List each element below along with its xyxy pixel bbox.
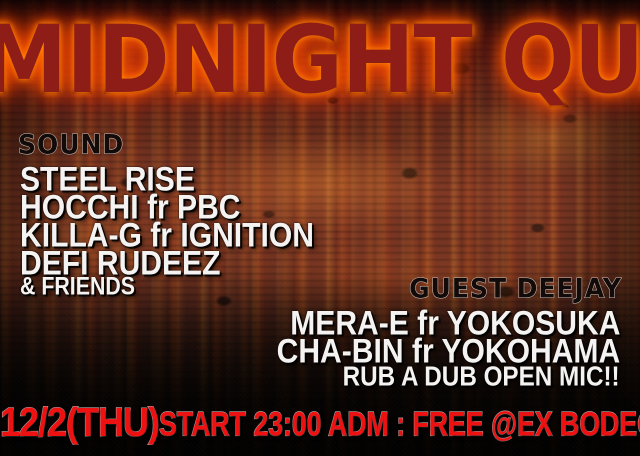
footer-details: START 23:00 ADM : FREE @EX BODEGA	[159, 406, 640, 445]
flyer-poster: MIDNIGHT QUAKE SOUND STEEL RISE HOCCHI f…	[0, 0, 640, 456]
guest-section-label: GUEST DEEJAY	[409, 273, 622, 303]
footer-info-line: 12/2(THU)START 23:00 ADM : FREE @EX BODE…	[0, 404, 640, 446]
sound-friends: & FRIENDS	[20, 272, 135, 301]
sound-section-label: SOUND	[18, 129, 124, 159]
poster-title-text: MIDNIGHT QUAKE	[0, 7, 640, 115]
guest-tagline: RUB A DUB OPEN MIC!!	[343, 361, 620, 393]
poster-title: MIDNIGHT QUAKE	[0, 17, 640, 107]
poster-content: MIDNIGHT QUAKE SOUND STEEL RISE HOCCHI f…	[0, 0, 640, 456]
footer-date: 12/2(THU)	[0, 399, 159, 446]
